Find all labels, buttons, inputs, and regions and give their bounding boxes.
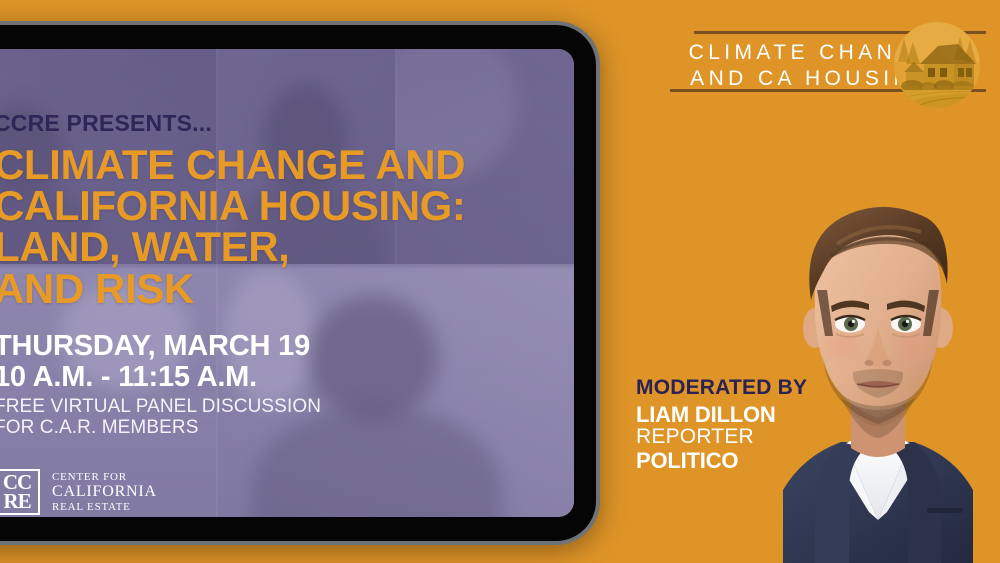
description-line-1: FREE VIRTUAL PANEL DISCUSSION xyxy=(0,397,544,418)
tablet-screen: CCRE PRESENTS... CLIMATE CHANGE AND CALI… xyxy=(0,49,574,517)
moderator-block: MODERATED BY LIAM DILLON REPORTER POLITI… xyxy=(636,376,807,473)
moderated-by-label: MODERATED BY xyxy=(636,376,807,399)
wordmark-line-1: CENTER FOR xyxy=(52,471,157,483)
description-line-2: FOR C.A.R. MEMBERS xyxy=(0,418,544,439)
tablet-device: CCRE PRESENTS... CLIMATE CHANGE AND CALI… xyxy=(0,21,600,545)
headline-line-2: CALIFORNIA HOUSING: xyxy=(0,185,544,226)
event-time: 10 A.M. - 11:15 A.M. xyxy=(0,362,544,393)
moderator-headshot xyxy=(745,160,1000,563)
monogram-line-2: RE xyxy=(3,492,30,511)
headline-line-1: CLIMATE CHANGE AND xyxy=(0,144,544,185)
event-headline: CLIMATE CHANGE AND CALIFORNIA HOUSING: L… xyxy=(0,144,544,309)
ccre-monogram-icon: CC RE xyxy=(0,469,40,515)
ccre-wordmark: CENTER FOR CALIFORNIA REAL ESTATE xyxy=(52,471,157,514)
moderator-organization: POLITICO xyxy=(636,449,807,473)
event-description: FREE VIRTUAL PANEL DISCUSSION FOR C.A.R.… xyxy=(0,397,544,439)
moderator-name: LIAM DILLON xyxy=(636,403,807,426)
wordmark-line-3: REAL ESTATE xyxy=(52,501,157,513)
kicker-text: CCRE PRESENTS... xyxy=(0,111,544,135)
screen-copy-block: CCRE PRESENTS... CLIMATE CHANGE AND CALI… xyxy=(0,111,544,439)
series-title-lockup: CLIMATE CHANGE AND CA HOUSING xyxy=(636,24,986,120)
event-date: THURSDAY, MARCH 19 xyxy=(0,331,544,362)
headline-line-4: AND RISK xyxy=(0,268,544,309)
house-illustration-icon xyxy=(894,22,980,108)
headline-line-3: LAND, WATER, xyxy=(0,226,544,267)
wordmark-line-2: CALIFORNIA xyxy=(52,483,157,501)
event-promo-poster: CCRE PRESENTS... CLIMATE CHANGE AND CALI… xyxy=(0,0,1000,563)
moderator-role: REPORTER xyxy=(636,426,807,449)
event-datetime: THURSDAY, MARCH 19 10 A.M. - 11:15 A.M. xyxy=(0,331,544,392)
ccre-logo: CC RE CENTER FOR CALIFORNIA REAL ESTATE xyxy=(0,469,157,515)
